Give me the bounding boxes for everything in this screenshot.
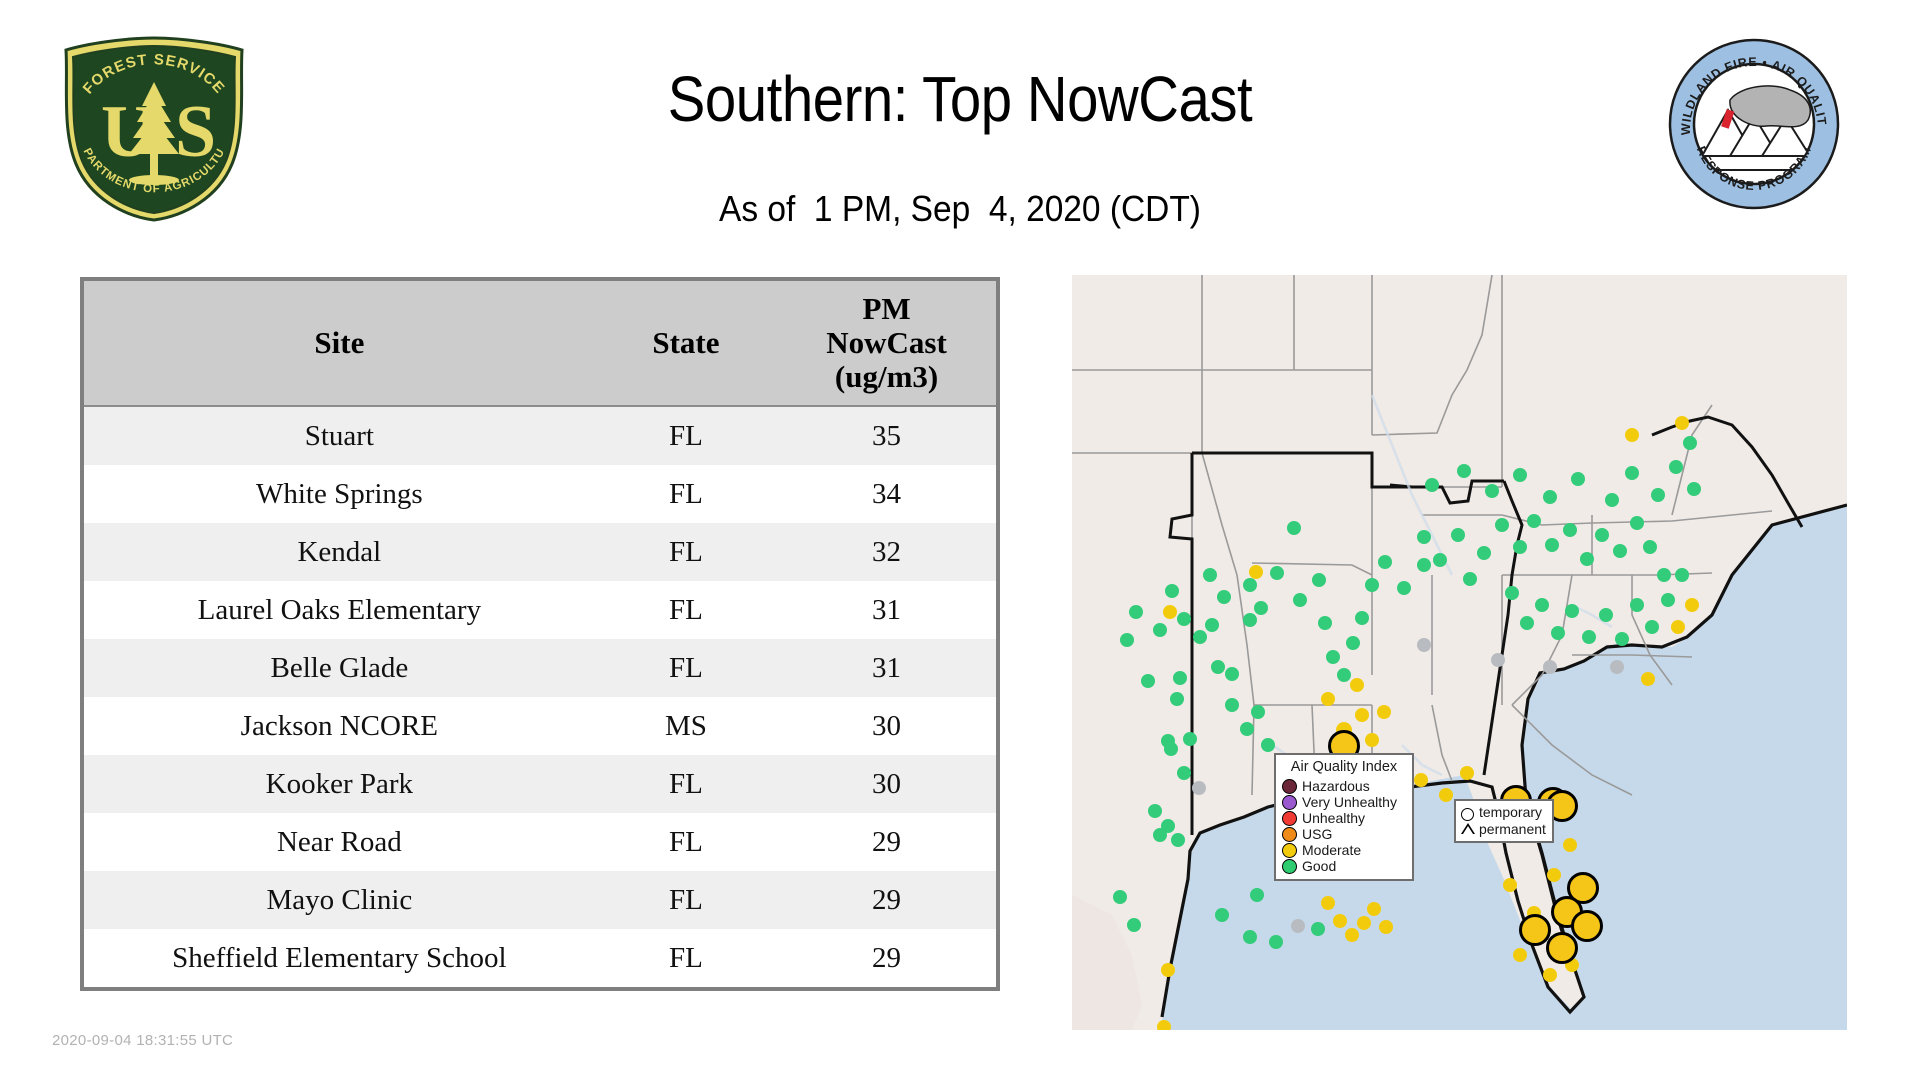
monitor-dot[interactable] bbox=[1513, 948, 1527, 962]
top-nowcast-table: Site State PM NowCast (ug/m3) StuartFL35… bbox=[80, 277, 1000, 991]
monitor-dot[interactable] bbox=[1243, 578, 1257, 592]
monitor-dot[interactable] bbox=[1657, 568, 1671, 582]
monitor-dot[interactable] bbox=[1599, 608, 1613, 622]
table-cell-site: Kooker Park bbox=[84, 755, 595, 813]
monitor-dot[interactable] bbox=[1350, 678, 1364, 692]
monitor-dot[interactable] bbox=[1141, 674, 1155, 688]
aqi-legend-label: Hazardous bbox=[1302, 778, 1370, 794]
monitor-dot[interactable] bbox=[1491, 653, 1505, 667]
monitor-dot[interactable] bbox=[1683, 436, 1697, 450]
monitor-dot[interactable] bbox=[1193, 630, 1207, 644]
table-cell-site: Near Road bbox=[84, 813, 595, 871]
permanent-triangle-icon bbox=[1461, 823, 1475, 834]
monitor-dot[interactable] bbox=[1250, 888, 1264, 902]
monitor-dot[interactable] bbox=[1345, 928, 1359, 942]
monitor-dot[interactable] bbox=[1177, 766, 1191, 780]
highlighted-monitor-dot[interactable] bbox=[1571, 910, 1603, 942]
table-body: StuartFL35White SpringsFL34KendalFL32Lau… bbox=[84, 406, 996, 987]
table-cell-state: FL bbox=[595, 813, 777, 871]
aqi-swatch-icon bbox=[1282, 827, 1297, 842]
aqi-legend-rows: HazardousVery UnhealthyUnhealthyUSGModer… bbox=[1282, 778, 1406, 874]
monitor-dot[interactable] bbox=[1477, 546, 1491, 560]
monitor-dot[interactable] bbox=[1243, 930, 1257, 944]
monitor-dot[interactable] bbox=[1365, 578, 1379, 592]
monitor-dot[interactable] bbox=[1661, 593, 1675, 607]
monitor-dot[interactable] bbox=[1355, 708, 1369, 722]
monitor-dot[interactable] bbox=[1595, 528, 1609, 542]
aqi-legend-item: Hazardous bbox=[1282, 778, 1406, 794]
table-cell-pm: 30 bbox=[777, 755, 996, 813]
monitor-dot[interactable] bbox=[1630, 516, 1644, 530]
monitor-dot[interactable] bbox=[1527, 514, 1541, 528]
monitor-dot[interactable] bbox=[1346, 636, 1360, 650]
table-cell-state: FL bbox=[595, 639, 777, 697]
table-cell-state: FL bbox=[595, 755, 777, 813]
monitor-dot[interactable] bbox=[1451, 528, 1465, 542]
monitor-dot[interactable] bbox=[1605, 493, 1619, 507]
table-cell-pm: 31 bbox=[777, 639, 996, 697]
table-cell-state: FL bbox=[595, 406, 777, 465]
monitor-dot[interactable] bbox=[1153, 623, 1167, 637]
monitor-dot[interactable] bbox=[1173, 671, 1187, 685]
monitor-dot[interactable] bbox=[1129, 605, 1143, 619]
monitor-dot[interactable] bbox=[1439, 788, 1453, 802]
monitor-dot[interactable] bbox=[1543, 660, 1557, 674]
table-cell-site: Mayo Clinic bbox=[84, 871, 595, 929]
monitor-dot[interactable] bbox=[1457, 464, 1471, 478]
monitor-dot[interactable] bbox=[1164, 742, 1178, 756]
column-header-pm-line2: NowCast bbox=[777, 326, 996, 360]
monitor-dot[interactable] bbox=[1355, 611, 1369, 625]
table-cell-site: Stuart bbox=[84, 406, 595, 465]
aqi-legend-title: Air Quality Index bbox=[1282, 759, 1406, 775]
monitor-dot[interactable] bbox=[1535, 598, 1549, 612]
aqi-swatch-icon bbox=[1282, 795, 1297, 810]
monitor-dot[interactable] bbox=[1211, 660, 1225, 674]
monitor-dot[interactable] bbox=[1357, 916, 1371, 930]
symbol-label-permanent: permanent bbox=[1479, 821, 1546, 838]
highlighted-monitor-dot[interactable] bbox=[1546, 932, 1578, 964]
monitor-dot[interactable] bbox=[1610, 660, 1624, 674]
monitor-dot[interactable] bbox=[1225, 698, 1239, 712]
aqi-legend-item: USG bbox=[1282, 826, 1406, 842]
monitor-dot[interactable] bbox=[1365, 733, 1379, 747]
monitor-dot[interactable] bbox=[1675, 416, 1689, 430]
monitor-dot[interactable] bbox=[1563, 523, 1577, 537]
monitor-dot[interactable] bbox=[1337, 668, 1351, 682]
monitor-dot[interactable] bbox=[1153, 828, 1167, 842]
monitor-dot[interactable] bbox=[1148, 804, 1162, 818]
table-cell-pm: 34 bbox=[777, 465, 996, 523]
table-cell-pm: 29 bbox=[777, 871, 996, 929]
aqi-legend-label: Good bbox=[1302, 858, 1336, 874]
monitor-dot[interactable] bbox=[1513, 540, 1527, 554]
table-row: KendalFL32 bbox=[84, 523, 996, 581]
table-row: Near RoadFL29 bbox=[84, 813, 996, 871]
monitor-dot[interactable] bbox=[1563, 838, 1577, 852]
aqi-legend-item: Good bbox=[1282, 858, 1406, 874]
monitor-dot[interactable] bbox=[1485, 484, 1499, 498]
table-cell-pm: 31 bbox=[777, 581, 996, 639]
monitor-dot[interactable] bbox=[1378, 555, 1392, 569]
aqi-swatch-icon bbox=[1282, 811, 1297, 826]
monitor-dot[interactable] bbox=[1543, 490, 1557, 504]
monitor-dot[interactable] bbox=[1545, 538, 1559, 552]
monitor-dot[interactable] bbox=[1217, 590, 1231, 604]
monitor-dot[interactable] bbox=[1157, 1020, 1171, 1030]
table-cell-site: Laurel Oaks Elementary bbox=[84, 581, 595, 639]
monitor-dot[interactable] bbox=[1463, 572, 1477, 586]
page-title: Southern: Top NowCast bbox=[115, 62, 1805, 136]
column-header-pm-line3: (ug/m3) bbox=[777, 360, 996, 394]
monitor-dot[interactable] bbox=[1269, 935, 1283, 949]
table-cell-site: Kendal bbox=[84, 523, 595, 581]
monitor-dot[interactable] bbox=[1291, 919, 1305, 933]
monitor-dot[interactable] bbox=[1551, 626, 1565, 640]
table-cell-site: Jackson NCORE bbox=[84, 697, 595, 755]
table-cell-state: FL bbox=[595, 929, 777, 987]
table-row: Laurel Oaks ElementaryFL31 bbox=[84, 581, 996, 639]
monitor-dot[interactable] bbox=[1120, 633, 1134, 647]
monitor-dot[interactable] bbox=[1293, 593, 1307, 607]
monitor-dot[interactable] bbox=[1505, 586, 1519, 600]
monitor-dot[interactable] bbox=[1249, 565, 1263, 579]
table-cell-state: MS bbox=[595, 697, 777, 755]
symbol-labels: temporary permanent bbox=[1479, 804, 1546, 838]
monitor-dot[interactable] bbox=[1326, 650, 1340, 664]
aqi-legend-label: Unhealthy bbox=[1302, 810, 1365, 826]
monitor-dot[interactable] bbox=[1165, 584, 1179, 598]
monitor-dot[interactable] bbox=[1270, 566, 1284, 580]
monitor-dot[interactable] bbox=[1177, 612, 1191, 626]
monitor-dot[interactable] bbox=[1203, 568, 1217, 582]
monitor-dot[interactable] bbox=[1513, 468, 1527, 482]
map-basemap bbox=[1072, 275, 1847, 1030]
monitor-dot[interactable] bbox=[1669, 460, 1683, 474]
monitor-dot[interactable] bbox=[1205, 618, 1219, 632]
table-cell-site: Sheffield Elementary School bbox=[84, 929, 595, 987]
table-cell-site: White Springs bbox=[84, 465, 595, 523]
monitor-dot[interactable] bbox=[1417, 638, 1431, 652]
monitor-dot[interactable] bbox=[1687, 482, 1701, 496]
monitor-dot[interactable] bbox=[1571, 472, 1585, 486]
table-cell-pm: 35 bbox=[777, 406, 996, 465]
monitor-dot[interactable] bbox=[1685, 598, 1699, 612]
aqi-legend-item: Unhealthy bbox=[1282, 810, 1406, 826]
monitor-dot[interactable] bbox=[1580, 552, 1594, 566]
symbol-label-temporary: temporary bbox=[1479, 804, 1546, 821]
monitor-dot[interactable] bbox=[1641, 672, 1655, 686]
monitor-dot[interactable] bbox=[1243, 613, 1257, 627]
table-cell-state: FL bbox=[595, 465, 777, 523]
map-canvas bbox=[1072, 275, 1847, 1030]
column-header-state: State bbox=[595, 281, 777, 406]
symbol-legend: temporary permanent bbox=[1454, 799, 1554, 843]
monitor-dot[interactable] bbox=[1645, 620, 1659, 634]
monitor-dot[interactable] bbox=[1333, 914, 1347, 928]
monitor-dot[interactable] bbox=[1671, 620, 1685, 634]
table-row: Sheffield Elementary SchoolFL29 bbox=[84, 929, 996, 987]
monitor-dot[interactable] bbox=[1520, 616, 1534, 630]
column-header-site: Site bbox=[84, 281, 595, 406]
monitor-dot[interactable] bbox=[1170, 692, 1184, 706]
table-cell-state: FL bbox=[595, 871, 777, 929]
table-cell-pm: 29 bbox=[777, 813, 996, 871]
monitor-dot[interactable] bbox=[1113, 890, 1127, 904]
monitor-dot[interactable] bbox=[1379, 920, 1393, 934]
aqi-legend-label: USG bbox=[1302, 826, 1332, 842]
aqi-legend-item: Moderate bbox=[1282, 842, 1406, 858]
monitor-dot[interactable] bbox=[1643, 540, 1657, 554]
monitor-dot[interactable] bbox=[1127, 918, 1141, 932]
aqi-legend-label: Very Unhealthy bbox=[1302, 794, 1397, 810]
aqi-swatch-icon bbox=[1282, 779, 1297, 794]
table-cell-pm: 30 bbox=[777, 697, 996, 755]
monitor-dot[interactable] bbox=[1240, 722, 1254, 736]
monitor-dot[interactable] bbox=[1171, 833, 1185, 847]
monitor-dot[interactable] bbox=[1625, 428, 1639, 442]
column-header-pm-line1: PM bbox=[777, 292, 996, 326]
monitor-dot[interactable] bbox=[1318, 616, 1332, 630]
temporary-circle-icon bbox=[1461, 808, 1474, 821]
column-header-pm-nowcast: PM NowCast (ug/m3) bbox=[777, 281, 996, 406]
monitor-dot[interactable] bbox=[1417, 530, 1431, 544]
page-subtitle: As of 1 PM, Sep 4, 2020 (CDT) bbox=[67, 188, 1853, 230]
monitor-dot[interactable] bbox=[1251, 705, 1265, 719]
monitor-dot[interactable] bbox=[1321, 896, 1335, 910]
monitor-dot[interactable] bbox=[1321, 692, 1335, 706]
monitor-dot[interactable] bbox=[1495, 518, 1509, 532]
air-quality-map[interactable]: Air Quality Index HazardousVery Unhealth… bbox=[1072, 275, 1847, 1030]
table-cell-state: FL bbox=[595, 581, 777, 639]
monitor-dot[interactable] bbox=[1367, 902, 1381, 916]
monitor-dot[interactable] bbox=[1161, 963, 1175, 977]
monitor-dot[interactable] bbox=[1613, 544, 1627, 558]
monitor-dot[interactable] bbox=[1311, 922, 1325, 936]
monitor-dot[interactable] bbox=[1183, 732, 1197, 746]
monitor-dot[interactable] bbox=[1565, 604, 1579, 618]
aqi-legend-item: Very Unhealthy bbox=[1282, 794, 1406, 810]
monitor-dot[interactable] bbox=[1163, 605, 1177, 619]
table-row: StuartFL35 bbox=[84, 406, 996, 465]
table-row: Mayo ClinicFL29 bbox=[84, 871, 996, 929]
monitor-dot[interactable] bbox=[1254, 601, 1268, 615]
monitor-dot[interactable] bbox=[1582, 630, 1596, 644]
symbol-glyphs bbox=[1460, 808, 1475, 834]
monitor-dot[interactable] bbox=[1433, 553, 1447, 567]
monitor-dot[interactable] bbox=[1503, 878, 1517, 892]
monitor-dot[interactable] bbox=[1615, 632, 1629, 646]
monitor-dot[interactable] bbox=[1414, 773, 1428, 787]
table-header-row: Site State PM NowCast (ug/m3) bbox=[84, 281, 996, 406]
table-row: White SpringsFL34 bbox=[84, 465, 996, 523]
generation-timestamp: 2020-09-04 18:31:55 UTC bbox=[52, 1032, 233, 1049]
monitor-dot[interactable] bbox=[1417, 558, 1431, 572]
monitor-dot[interactable] bbox=[1261, 738, 1275, 752]
monitor-dot[interactable] bbox=[1625, 466, 1639, 480]
table-row: Kooker ParkFL30 bbox=[84, 755, 996, 813]
monitor-dot[interactable] bbox=[1543, 968, 1557, 982]
monitor-dot[interactable] bbox=[1630, 598, 1644, 612]
monitor-dot[interactable] bbox=[1192, 781, 1206, 795]
table-row: Belle GladeFL31 bbox=[84, 639, 996, 697]
monitor-dot[interactable] bbox=[1547, 868, 1561, 882]
monitor-dot[interactable] bbox=[1287, 521, 1301, 535]
monitor-dot[interactable] bbox=[1651, 488, 1665, 502]
monitor-dot[interactable] bbox=[1675, 568, 1689, 582]
table-row: Jackson NCOREMS30 bbox=[84, 697, 996, 755]
aqi-legend: Air Quality Index HazardousVery Unhealth… bbox=[1274, 753, 1414, 881]
monitor-dot[interactable] bbox=[1377, 705, 1391, 719]
table-cell-pm: 32 bbox=[777, 523, 996, 581]
monitor-dot[interactable] bbox=[1215, 908, 1229, 922]
table-cell-state: FL bbox=[595, 523, 777, 581]
aqi-swatch-icon bbox=[1282, 843, 1297, 858]
table-cell-site: Belle Glade bbox=[84, 639, 595, 697]
monitor-dot[interactable] bbox=[1312, 573, 1326, 587]
aqi-legend-label: Moderate bbox=[1302, 842, 1361, 858]
monitor-dot[interactable] bbox=[1225, 667, 1239, 681]
monitor-dot[interactable] bbox=[1397, 581, 1411, 595]
table-cell-pm: 29 bbox=[777, 929, 996, 987]
monitor-dot[interactable] bbox=[1460, 766, 1474, 780]
monitor-dot[interactable] bbox=[1425, 478, 1439, 492]
aqi-swatch-icon bbox=[1282, 859, 1297, 874]
